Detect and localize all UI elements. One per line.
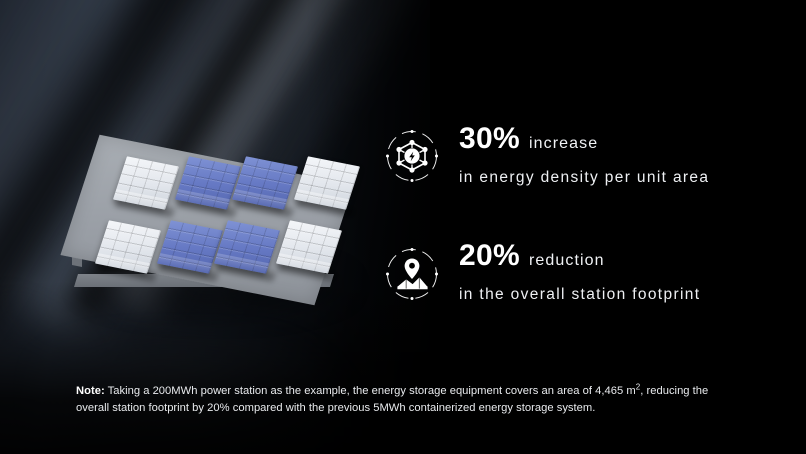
footnote-text-part1: Taking a 200MWh power station as the exa… xyxy=(105,385,636,397)
station-footprint-icon xyxy=(381,243,443,305)
stat-text-group: 30% increase in energy density per unit … xyxy=(459,122,709,187)
slide-canvas: 30% increase in energy density per unit … xyxy=(0,0,806,454)
stat-word: reduction xyxy=(529,253,605,269)
stat-headline: 30% increase xyxy=(459,124,709,154)
energy-density-icon xyxy=(381,125,443,187)
stat-subtitle: in the overall station footprint xyxy=(459,286,700,304)
stat-value: 20% xyxy=(459,241,520,271)
stat-text-group: 20% reduction in the overall station foo… xyxy=(459,240,700,304)
stat-value: 30% xyxy=(459,124,520,154)
footnote-line2: overall station footprint by 20% compare… xyxy=(76,402,595,414)
stat-subtitle: in energy density per unit area xyxy=(459,169,709,187)
stat-headline: 20% reduction xyxy=(459,241,700,271)
battery-rack xyxy=(294,156,360,210)
product-render xyxy=(62,138,362,318)
footnote-text-part2: , reducing the xyxy=(640,385,708,397)
stat-word: increase xyxy=(529,136,598,152)
stat-block-station-footprint: 20% reduction in the overall station foo… xyxy=(381,240,700,305)
stat-block-energy-density: 30% increase in energy density per unit … xyxy=(381,122,709,187)
footnote-label: Note: xyxy=(76,385,105,397)
footnote: Note: Taking a 200MWh power station as t… xyxy=(76,383,738,416)
